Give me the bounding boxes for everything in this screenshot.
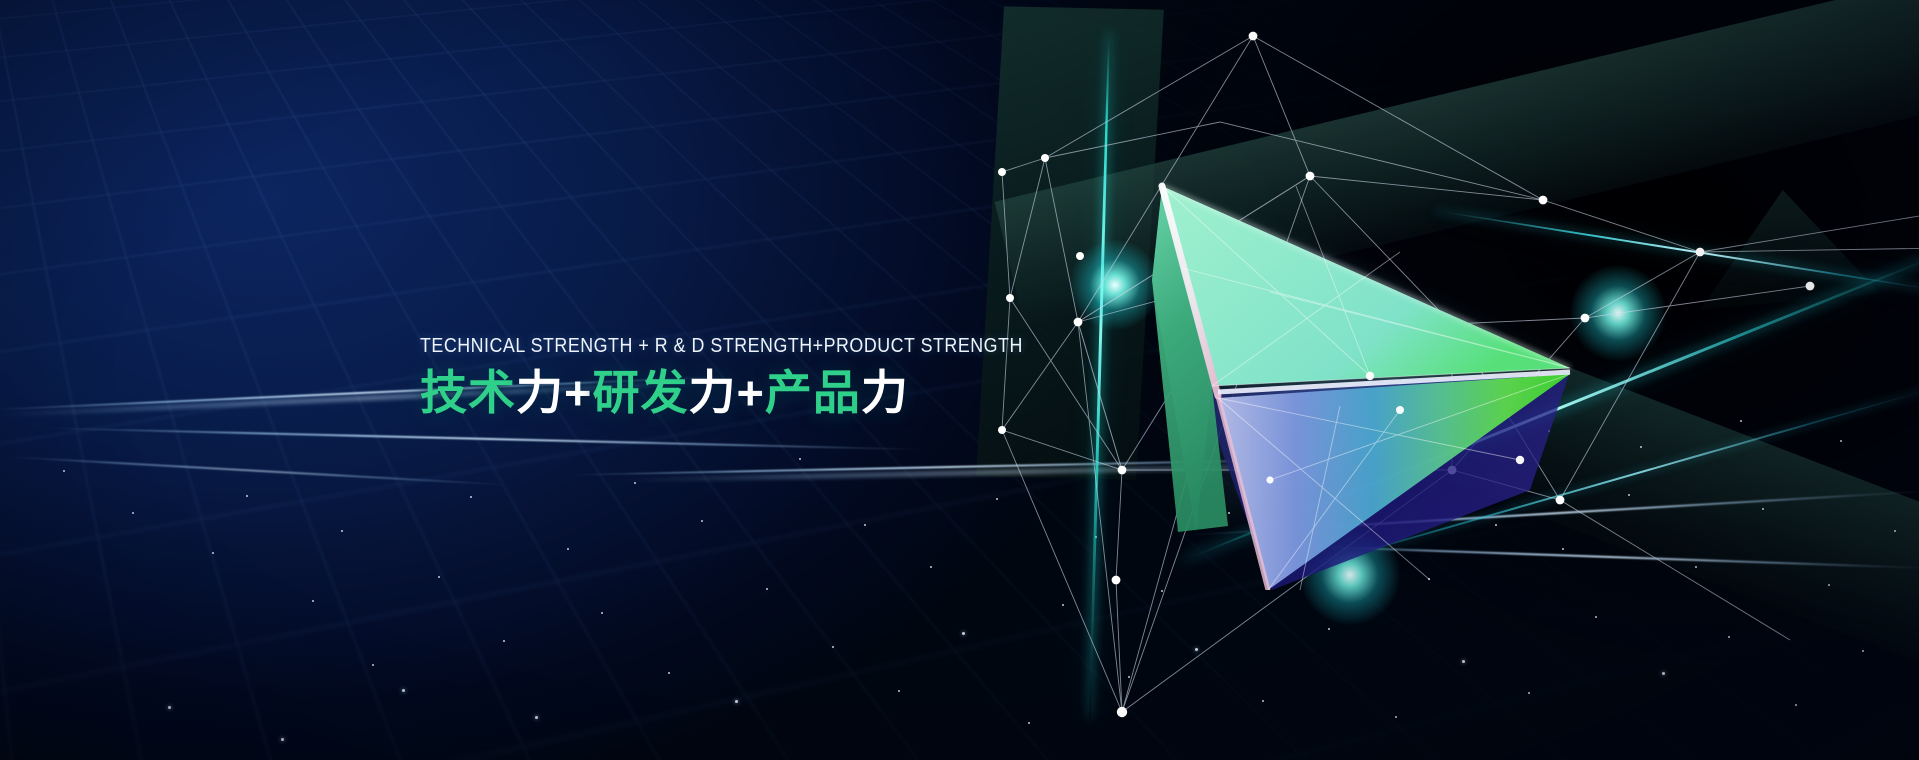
background-perspective-grid [0, 0, 1919, 760]
wave-crest-glow [0, 378, 760, 417]
headline-segment-product-suffix: 力 [861, 366, 909, 419]
headline-segment-rd: 研发 [592, 366, 688, 419]
light-flare-left [1070, 240, 1160, 330]
hero-eyebrow: TECHNICAL STRENGTH + R & D STRENGTH+PROD… [420, 334, 959, 358]
light-flare-bottom [1300, 525, 1400, 625]
hero-text-block: TECHNICAL STRENGTH + R & D STRENGTH+PROD… [420, 334, 1040, 420]
light-flare-right [1570, 265, 1666, 361]
dark-notch-shape [1700, 190, 1880, 310]
dark-diagonal-slab-lower [1353, 305, 1919, 717]
wave-crest-line [0, 455, 519, 486]
wireframe-wave-terrain [0, 380, 1919, 760]
headline-segment-rd-suffix: 力+ [688, 366, 764, 419]
dark-diagonal-slab-upper [995, 0, 1919, 330]
wave-crest-line [1181, 489, 1919, 536]
node-link-network [0, 0, 1919, 760]
dark-panel-slab [976, 6, 1164, 479]
wave-crest-line [40, 427, 940, 451]
cyan-vertical-beam [1088, 30, 1110, 720]
hero-banner: TECHNICAL STRENGTH + R & D STRENGTH+PROD… [0, 0, 1919, 760]
right-dark-overlay [729, 0, 1919, 760]
wave-crest-line [0, 375, 740, 411]
particle-field [0, 0, 1919, 760]
wave-crest-line [1280, 544, 1919, 569]
cyan-diagonal-beam-upper [1433, 209, 1919, 292]
vignette-overlay [0, 0, 1919, 760]
headline-segment-product: 产品 [765, 366, 861, 419]
